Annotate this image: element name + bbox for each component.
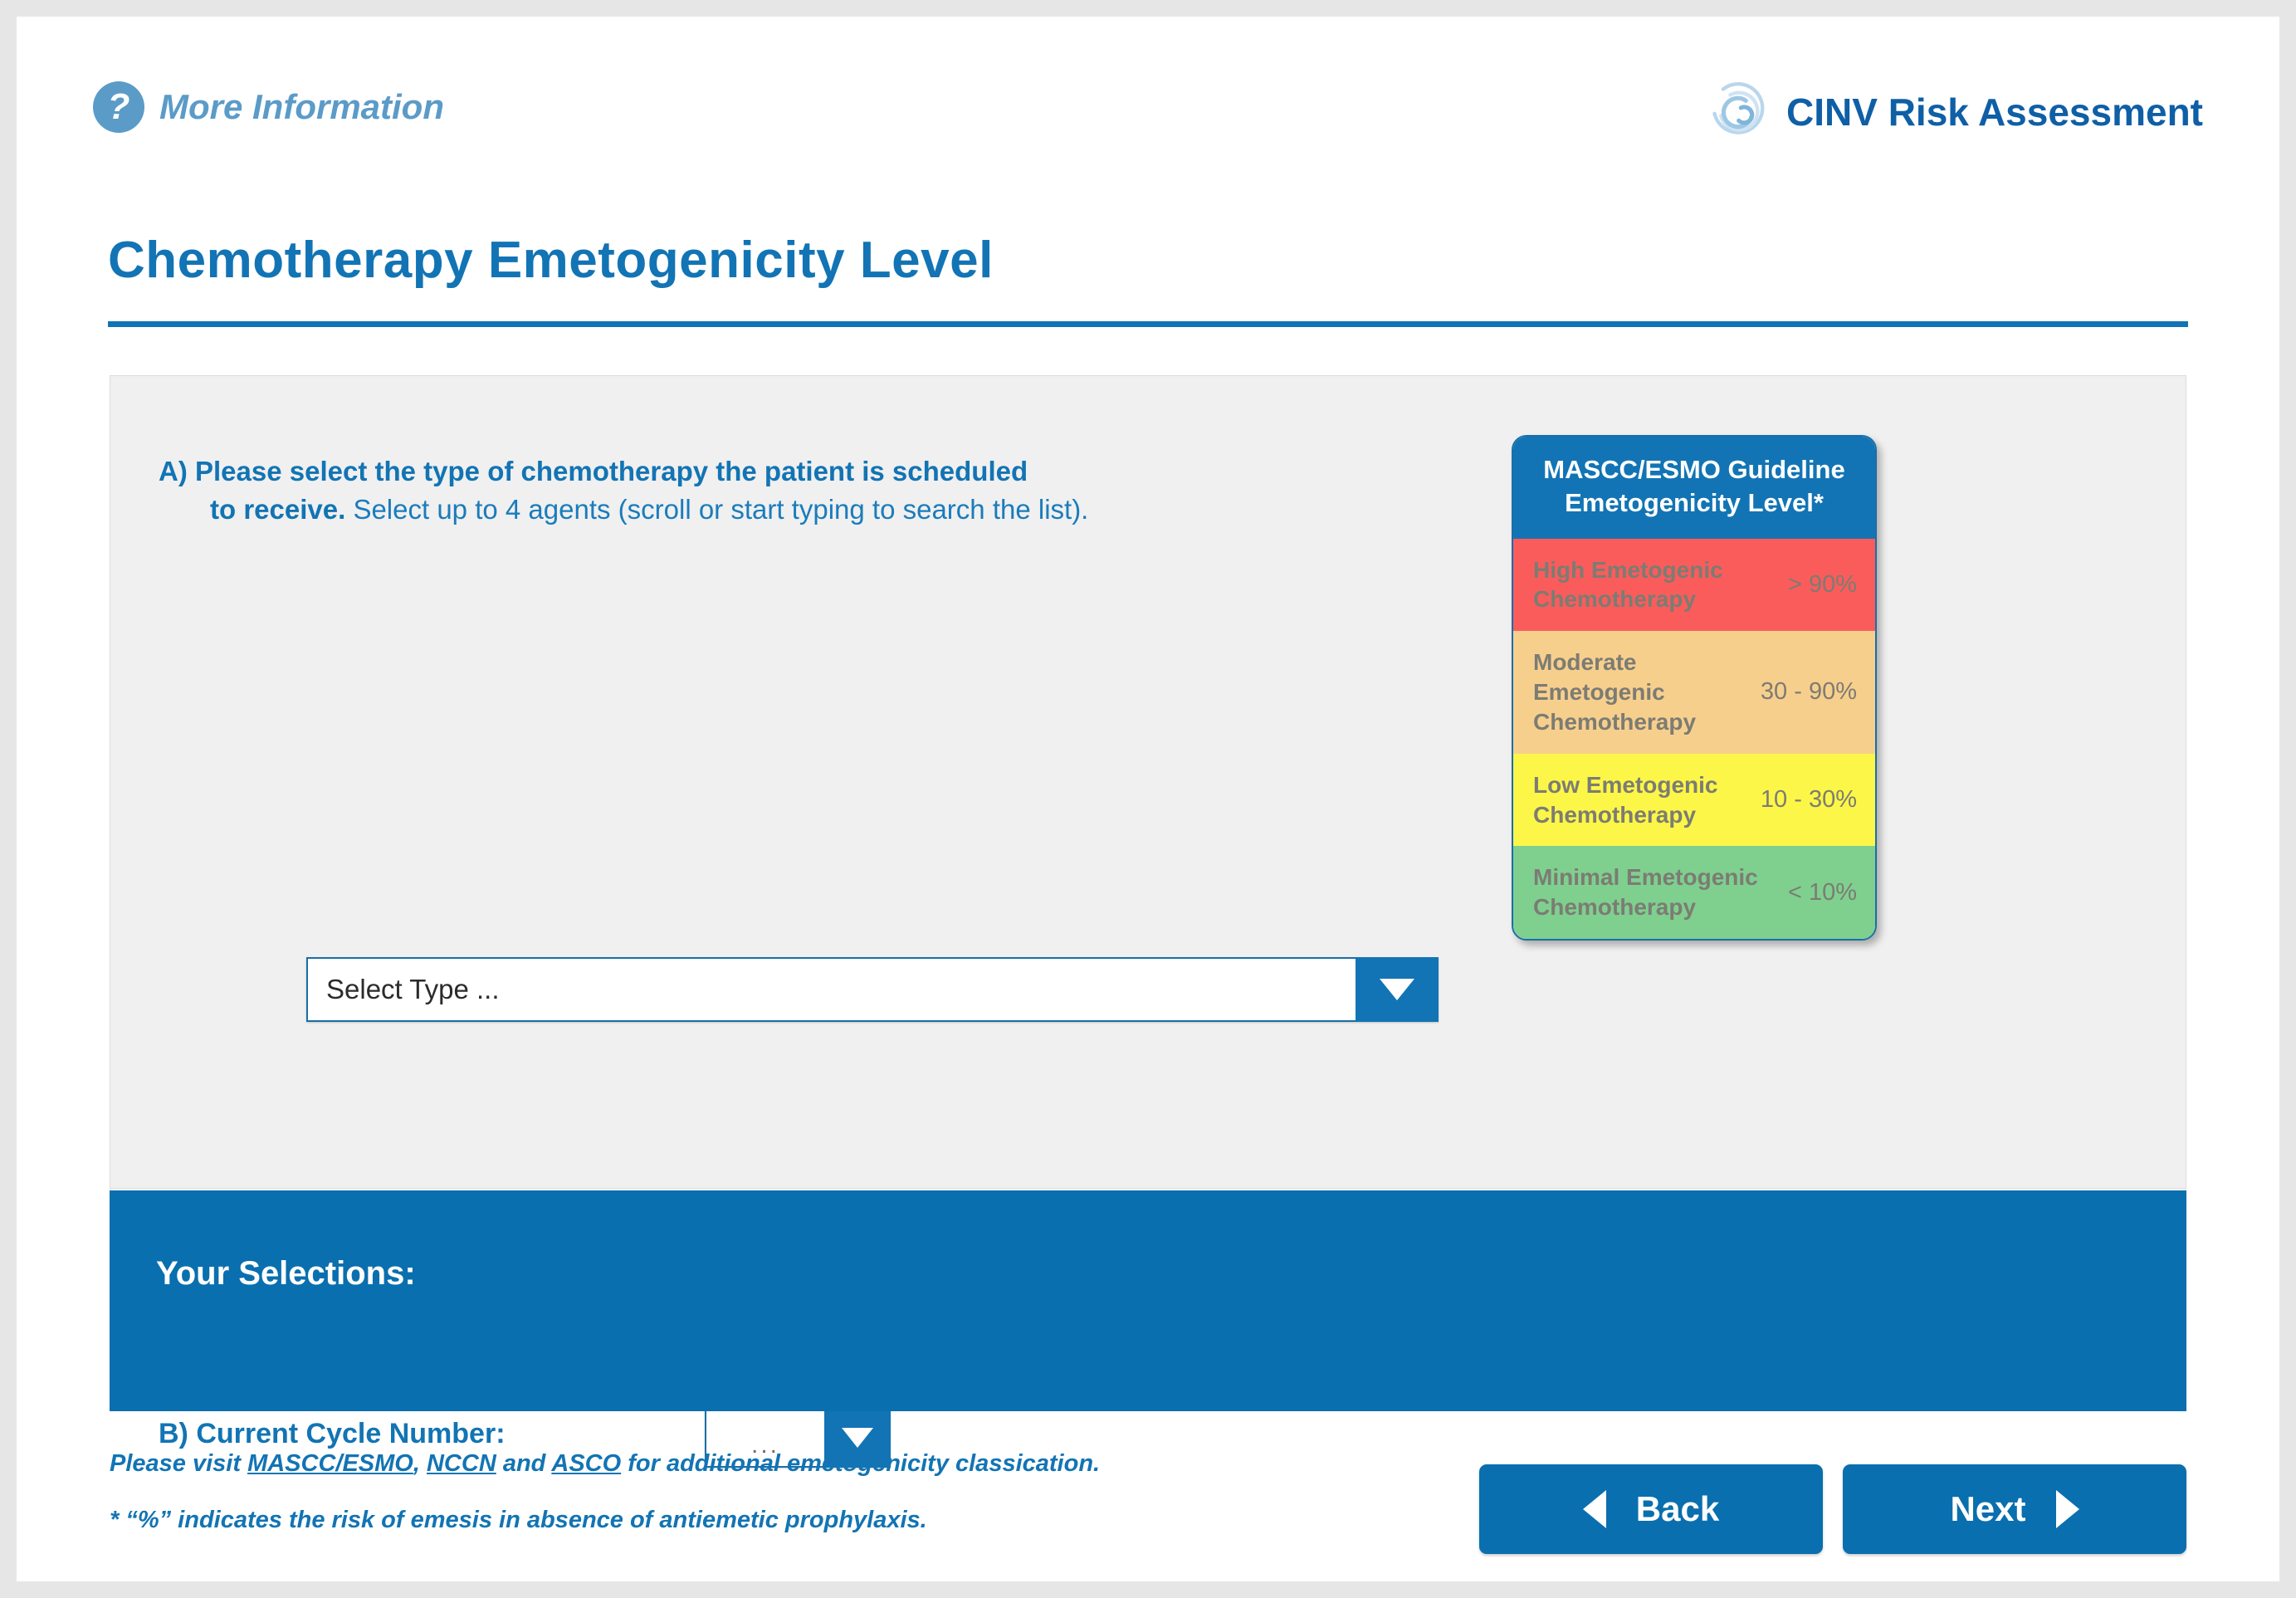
next-button[interactable]: Next bbox=[1843, 1464, 2186, 1554]
triangle-right-icon bbox=[2056, 1490, 2079, 1528]
your-selections-panel: Your Selections: bbox=[110, 1190, 2186, 1411]
legend-row-minimal-name: Minimal Emetogenic Chemotherapy bbox=[1533, 863, 1758, 922]
legend-row-low-percent: 10 - 30% bbox=[1749, 786, 1857, 814]
question-a-text-bold: Please select the type of chemotherapy t… bbox=[195, 456, 1028, 486]
question-a-text-normal: Select up to 4 agents (scroll or start t… bbox=[353, 494, 1088, 525]
link-mascc-esmo[interactable]: MASCC/ESMO bbox=[247, 1450, 413, 1477]
chevron-down-icon[interactable] bbox=[1356, 957, 1439, 1022]
triangle-left-icon bbox=[1583, 1490, 1606, 1528]
emetogenicity-legend-card: MASCC/ESMO Guideline Emetogenicity Level… bbox=[1512, 435, 1877, 941]
legend-title-line1: MASCC/ESMO Guideline bbox=[1522, 453, 1867, 486]
link-asco[interactable]: ASCO bbox=[551, 1450, 621, 1477]
more-information-button[interactable]: ? More Information bbox=[93, 81, 444, 133]
question-a-text-bold2: to receive. bbox=[210, 494, 345, 525]
page-title: Chemotherapy Emetogenicity Level bbox=[108, 231, 994, 290]
back-button-label: Back bbox=[1636, 1489, 1719, 1529]
form-panel: A) Please select the type of chemotherap… bbox=[110, 375, 2186, 1189]
question-a-line2: to receive. Select up to 4 agents (scrol… bbox=[159, 491, 1404, 529]
question-a-line1: A) Please select the type of chemotherap… bbox=[159, 452, 1404, 491]
brand-title: CINV Risk Assessment bbox=[1786, 90, 2203, 134]
footer-line-1: Please visit MASCC/ESMO, NCCN and ASCO f… bbox=[110, 1451, 1438, 1478]
legend-title-line2: Emetogenicity Level* bbox=[1522, 486, 1867, 520]
footer-prefix: Please visit bbox=[110, 1450, 247, 1477]
back-button[interactable]: Back bbox=[1479, 1464, 1823, 1554]
legend-row-moderate-name: Moderate Emetogenic Chemotherapy bbox=[1533, 648, 1749, 736]
page-surface: ? More Information CINV Risk Assessment … bbox=[17, 17, 2279, 1581]
legend-row-low-name: Low Emetogenic Chemotherapy bbox=[1533, 770, 1717, 830]
next-button-label: Next bbox=[1950, 1489, 2025, 1529]
spiral-swirl-logo-icon bbox=[1702, 76, 1773, 148]
legend-row-high: High Emetogenic Chemotherapy > 90% bbox=[1513, 539, 1875, 632]
question-a-letter: A) bbox=[159, 456, 188, 486]
question-mark-icon: ? bbox=[93, 81, 144, 133]
navigation-buttons: Back Next bbox=[1479, 1464, 2186, 1554]
question-a: A) Please select the type of chemotherap… bbox=[159, 452, 1404, 528]
more-information-label: More Information bbox=[159, 87, 444, 127]
link-nccn[interactable]: NCCN bbox=[427, 1450, 496, 1477]
legend-row-minimal: Minimal Emetogenic Chemotherapy < 10% bbox=[1513, 846, 1875, 939]
title-divider bbox=[108, 321, 2188, 327]
footer-notes: Please visit MASCC/ESMO, NCCN and ASCO f… bbox=[110, 1451, 1438, 1534]
legend-row-moderate: Moderate Emetogenic Chemotherapy 30 - 90… bbox=[1513, 631, 1875, 753]
question-b-label: B) Current Cycle Number: bbox=[159, 1418, 506, 1450]
footer-sep-1: , bbox=[413, 1450, 427, 1477]
chemotherapy-type-value: Select Type ... bbox=[326, 974, 500, 1005]
legend-row-minimal-percent: < 10% bbox=[1776, 879, 1857, 907]
legend-row-high-name: High Emetogenic Chemotherapy bbox=[1533, 555, 1723, 615]
top-bar: ? More Information CINV Risk Assessment bbox=[17, 17, 2279, 141]
footer-sep-2: and bbox=[496, 1450, 552, 1477]
footer-line-2: * “%” indicates the risk of emesis in ab… bbox=[110, 1508, 1438, 1534]
legend-row-low: Low Emetogenic Chemotherapy 10 - 30% bbox=[1513, 754, 1875, 847]
footer-suffix: for additional emetogenicity classicatio… bbox=[621, 1450, 1100, 1477]
legend-row-moderate-percent: 30 - 90% bbox=[1749, 678, 1857, 706]
your-selections-label: Your Selections: bbox=[156, 1255, 416, 1293]
legend-header: MASCC/ESMO Guideline Emetogenicity Level… bbox=[1513, 437, 1875, 539]
brand: CINV Risk Assessment bbox=[1702, 76, 2203, 148]
legend-row-high-percent: > 90% bbox=[1776, 571, 1857, 599]
app-screen: ? More Information CINV Risk Assessment … bbox=[0, 0, 2296, 1598]
chemotherapy-type-field[interactable]: Select Type ... bbox=[306, 957, 1356, 1022]
chemotherapy-type-select[interactable]: Select Type ... bbox=[306, 957, 1439, 1022]
